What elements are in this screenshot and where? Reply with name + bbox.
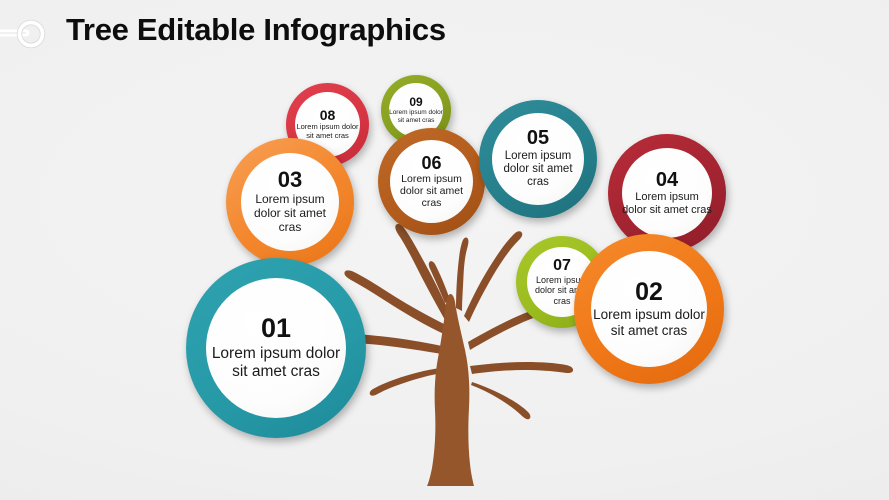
page-title: Tree Editable Infographics	[66, 12, 446, 48]
node-disc-01: 01 Lorem ipsum dolor sit amet cras	[206, 278, 346, 418]
node-description-01: Lorem ipsum dolor sit amet cras	[206, 345, 346, 381]
node-description-09: Lorem ipsum dolor sit amet cras	[389, 109, 443, 124]
node-disc-02: 02 Lorem ipsum dolor sit amet cras	[591, 251, 707, 367]
node-number-01: 01	[261, 315, 291, 343]
node-number-05: 05	[527, 128, 549, 148]
node-circle-06[interactable]: 06 Lorem ipsum dolor sit amet cras	[378, 128, 485, 235]
node-disc-05: 05 Lorem ipsum dolor sit amet cras	[492, 113, 584, 205]
node-description-06: Lorem ipsum dolor sit amet cras	[390, 173, 473, 210]
node-number-03: 03	[278, 169, 302, 191]
node-description-02: Lorem ipsum dolor sit amet cras	[591, 307, 707, 338]
node-description-05: Lorem ipsum dolor sit amet cras	[492, 150, 584, 190]
node-number-04: 04	[656, 170, 678, 190]
node-circle-02[interactable]: 02 Lorem ipsum dolor sit amet cras	[574, 234, 724, 384]
loop-ring-icon	[0, 16, 56, 52]
node-description-03: Lorem ipsum dolor sit amet cras	[241, 193, 339, 235]
node-description-08: Lorem ipsum dolor sit amet cras	[295, 123, 360, 140]
node-disc-03: 03 Lorem ipsum dolor sit amet cras	[241, 153, 339, 251]
node-circle-05[interactable]: 05 Lorem ipsum dolor sit amet cras	[479, 100, 597, 218]
node-number-02: 02	[635, 280, 663, 306]
node-description-04: Lorem ipsum dolor sit amet cras	[622, 191, 712, 217]
infographic-canvas: Tree Editable Infographics	[0, 0, 889, 500]
node-number-06: 06	[421, 154, 441, 172]
node-disc-04: 04 Lorem ipsum dolor sit amet cras	[622, 148, 712, 238]
node-circle-03[interactable]: 03 Lorem ipsum dolor sit amet cras	[226, 138, 354, 266]
node-disc-06: 06 Lorem ipsum dolor sit amet cras	[390, 140, 473, 223]
node-number-07: 07	[553, 258, 571, 274]
node-number-08: 08	[320, 108, 336, 122]
node-circle-04[interactable]: 04 Lorem ipsum dolor sit amet cras	[608, 134, 726, 252]
node-circle-01[interactable]: 01 Lorem ipsum dolor sit amet cras	[186, 258, 366, 438]
node-number-09: 09	[409, 96, 422, 108]
